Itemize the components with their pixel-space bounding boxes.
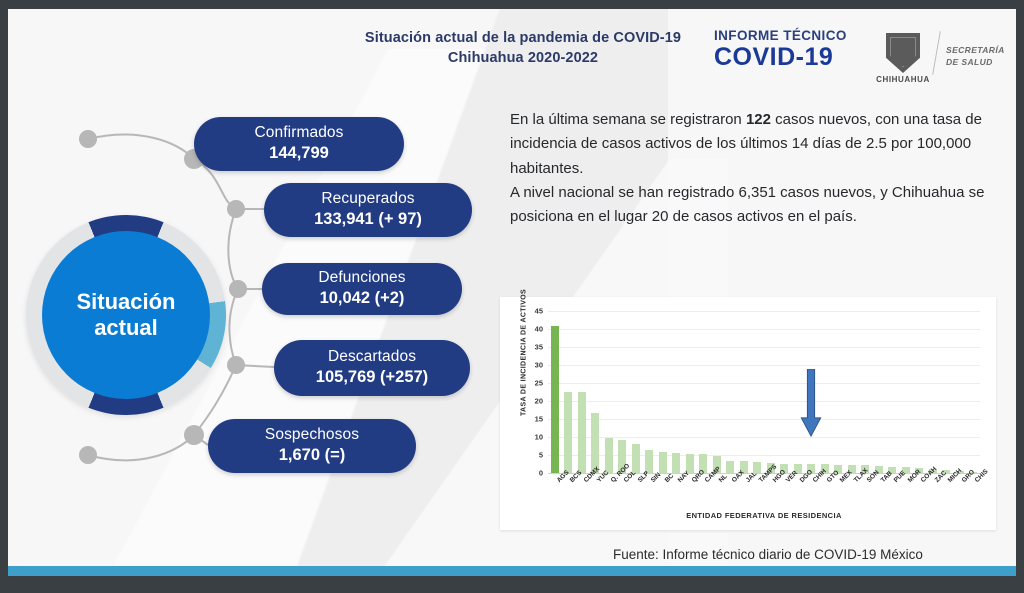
bar-slot <box>548 311 562 473</box>
x-label-slot: DGO <box>791 477 805 511</box>
stat-pill-defunciones[interactable]: Defunciones 10,042 (+2) <box>262 263 462 315</box>
slide-canvas: Situación actual de la pandemia de COVID… <box>8 9 1016 576</box>
bar-slot <box>670 311 684 473</box>
x-label-slot: TAMPS <box>751 477 765 511</box>
x-label-slot: JAL <box>737 477 751 511</box>
y-tick-label: 30 <box>535 361 543 370</box>
stat-value: 10,042 (+2) <box>320 289 405 308</box>
stat-value: 1,670 (=) <box>279 446 346 465</box>
narrative-p1-part-a: En la última semana se registraron <box>510 111 746 128</box>
situacion-actual-diagram: Situación actual Confirmados 144,799 Rec… <box>8 97 488 497</box>
bar-slot <box>629 311 643 473</box>
x-label-slot: Q. ROO <box>602 477 616 511</box>
x-label-slot: ZAC <box>926 477 940 511</box>
bar-slot <box>710 311 724 473</box>
stat-pill-recuperados[interactable]: Recuperados 133,941 (+ 97) <box>264 183 472 237</box>
bar-slot <box>953 311 967 473</box>
x-label-slot: TAB <box>872 477 886 511</box>
brand-logo: INFORME TÉCNICO COVID-19 <box>714 29 864 70</box>
x-label-slot: VER <box>778 477 792 511</box>
y-tick-label: 25 <box>535 379 543 388</box>
source-note: Fuente: Informe técnico diario de COVID-… <box>613 547 923 562</box>
stat-label: Confirmados <box>255 124 344 142</box>
bar-slot <box>886 311 900 473</box>
x-label-slot: OAX <box>724 477 738 511</box>
stat-label: Descartados <box>328 348 416 366</box>
x-label-slot: HGO <box>764 477 778 511</box>
stat-value: 144,799 <box>269 144 329 163</box>
bar-slot <box>656 311 670 473</box>
page-title: Situación actual de la pandemia de COVID… <box>338 29 708 68</box>
y-tick-label: 5 <box>539 451 543 460</box>
bar-slot <box>724 311 738 473</box>
new-cases-count: 122 <box>746 111 771 128</box>
bar-slot <box>616 311 630 473</box>
x-label-slot: SLP <box>629 477 643 511</box>
stat-label: Sospechosos <box>265 426 359 444</box>
chart-bars <box>548 311 980 473</box>
bar-slot <box>899 311 913 473</box>
bar-slot <box>940 311 954 473</box>
slide-bottom-accent-bar <box>8 566 1016 576</box>
bar-slot <box>832 311 846 473</box>
brand-line-informe-tecnico: INFORME TÉCNICO <box>714 29 864 43</box>
bar-slot <box>697 311 711 473</box>
y-tick-label: 20 <box>535 397 543 406</box>
x-label-slot: COAH <box>913 477 927 511</box>
bar-slot <box>926 311 940 473</box>
incidence-bar-chart: TASA DE INCIDENCIA DE ACTIVOS 0510152025… <box>500 297 996 530</box>
bar-slot <box>778 311 792 473</box>
stat-label: Defunciones <box>318 269 405 287</box>
donut-center-label: Situación actual <box>76 289 175 341</box>
chart-x-axis-title: ENTIDAD FEDERATIVA DE RESIDENCIA <box>548 511 980 520</box>
bar-slot <box>589 311 603 473</box>
x-label-slot: CDMX <box>575 477 589 511</box>
x-label-slot: NAY <box>670 477 684 511</box>
y-tick-label: 0 <box>539 469 543 478</box>
chart-bar <box>672 453 680 473</box>
x-label-slot: SON <box>859 477 873 511</box>
bar-slot <box>602 311 616 473</box>
x-label-slot: PUE <box>886 477 900 511</box>
bar-slot <box>845 311 859 473</box>
chart-bar <box>726 461 734 473</box>
bar-slot <box>575 311 589 473</box>
x-label-slot: GRO <box>953 477 967 511</box>
chart-bar <box>564 392 572 473</box>
stat-pill-confirmados[interactable]: Confirmados 144,799 <box>194 117 404 171</box>
stat-value: 133,941 (+ 97) <box>314 210 422 229</box>
y-tick-label: 10 <box>535 433 543 442</box>
slide-header: Situación actual de la pandemia de COVID… <box>8 9 1016 87</box>
y-tick-label: 15 <box>535 415 543 424</box>
chart-plot-area: 051015202530354045 <box>548 311 980 474</box>
chart-bar <box>578 392 586 473</box>
chart-bar <box>551 326 559 473</box>
x-label-slot: AGS <box>548 477 562 511</box>
x-label-slot: NL <box>710 477 724 511</box>
bar-slot <box>683 311 697 473</box>
y-tick-label: 35 <box>535 343 543 352</box>
x-label-slot: MOR <box>899 477 913 511</box>
y-tick-label: 40 <box>535 325 543 334</box>
y-tick-label: 45 <box>535 307 543 316</box>
x-label-slot: YUC <box>589 477 603 511</box>
bar-slot <box>562 311 576 473</box>
donut-ring: Situación actual <box>26 215 226 415</box>
chihuahua-logo-label: CHIHUAHUA <box>874 75 932 84</box>
bar-slot <box>751 311 765 473</box>
narrative-text: En la última semana se registraron 122 c… <box>510 108 1016 229</box>
stat-pill-sospechosos[interactable]: Sospechosos 1,670 (=) <box>208 419 416 473</box>
secretaria-de-salud-label: SECRETARÍA DE SALUD <box>946 44 1005 69</box>
chart-bar <box>605 438 613 473</box>
x-label-slot: BCS <box>562 477 576 511</box>
x-label-slot: BC <box>656 477 670 511</box>
x-label-slot: CHIS <box>967 477 981 511</box>
brand-line-covid19: COVID-19 <box>714 45 864 70</box>
chihuahua-logo: CHIHUAHUA <box>874 33 932 84</box>
chart-bar <box>659 452 667 473</box>
bar-slot <box>643 311 657 473</box>
chart-y-axis-title: TASA DE INCIDENCIA DE ACTIVOS <box>521 273 528 433</box>
bar-slot <box>737 311 751 473</box>
bar-slot <box>764 311 778 473</box>
donut-center: Situación actual <box>42 231 210 399</box>
x-label-slot: QRO <box>683 477 697 511</box>
stat-pill-descartados[interactable]: Descartados 105,769 (+257) <box>274 340 470 396</box>
logo-divider <box>932 31 941 75</box>
bar-slot <box>967 311 981 473</box>
x-label-slot: CHIH <box>805 477 819 511</box>
chart-bar <box>591 413 599 473</box>
bar-slot <box>913 311 927 473</box>
chart-x-tick-labels: AGSBCSCDMXYUCQ. ROOCOLSLPSINBCNAYQROCAMP… <box>548 477 980 511</box>
x-label-slot: MICH <box>940 477 954 511</box>
x-label-slot: MEX <box>832 477 846 511</box>
narrative-paragraph-1: En la última semana se registraron 122 c… <box>510 108 1016 181</box>
x-label-slot: COL <box>616 477 630 511</box>
x-label-slot: TLAX <box>845 477 859 511</box>
narrative-paragraph-2: A nivel nacional se han registrado 6,351… <box>510 181 1016 230</box>
bar-slot <box>859 311 873 473</box>
chihuahua-shield-icon <box>886 33 920 73</box>
x-label-slot: GTO <box>818 477 832 511</box>
stat-label: Recuperados <box>321 190 414 208</box>
down-arrow-annotation-icon <box>794 369 828 437</box>
bar-slot <box>872 311 886 473</box>
stat-value: 105,769 (+257) <box>316 368 428 387</box>
x-label-slot: SIN <box>643 477 657 511</box>
x-label-slot: CAMP <box>697 477 711 511</box>
